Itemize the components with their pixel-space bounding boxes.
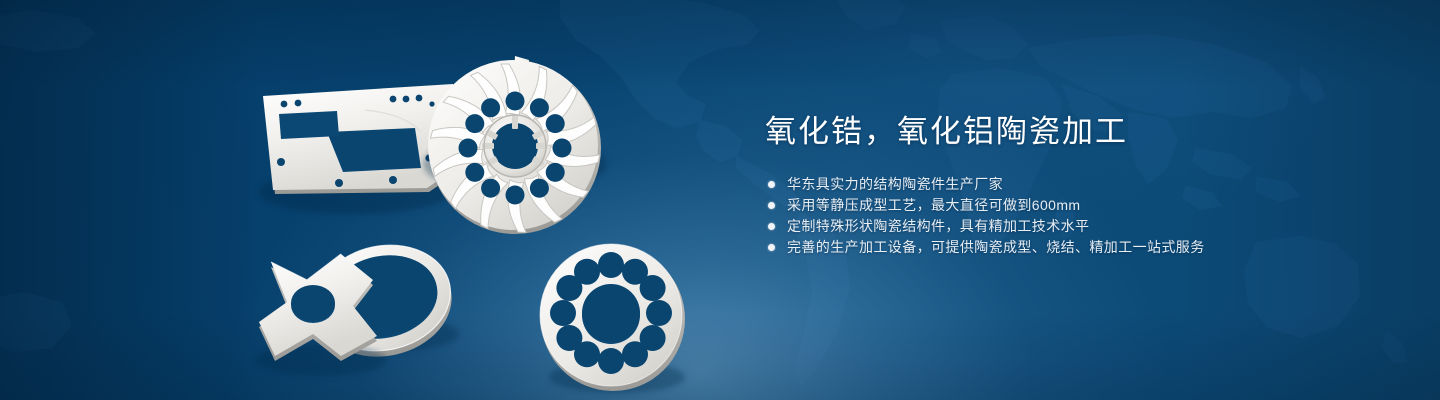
banner-copy: 氧化锆，氧化铝陶瓷加工 华东具实力的结构陶瓷件生产厂家 采用等静压成型工艺，最大…: [765, 112, 1365, 258]
ceramic-impeller-disc: [423, 56, 607, 234]
bullet-dot-icon: [768, 244, 775, 251]
list-item-label: 华东具实力的结构陶瓷件生产厂家: [787, 176, 1003, 192]
page-title: 氧化锆，氧化铝陶瓷加工: [765, 112, 1365, 152]
list-item: 华东具实力的结构陶瓷件生产厂家: [765, 174, 1365, 195]
feature-list: 华东具实力的结构陶瓷件生产厂家 采用等静压成型工艺，最大直径可做到600mm 定…: [765, 174, 1365, 258]
list-item-label: 定制特殊形状陶瓷结构件，具有精加工技术水平: [787, 218, 1089, 234]
bullet-dot-icon: [768, 202, 775, 209]
bullet-dot-icon: [768, 223, 775, 230]
list-item: 采用等静压成型工艺，最大直径可做到600mm: [765, 195, 1365, 216]
bullet-dot-icon: [768, 181, 775, 188]
ceramic-products-image: [215, 40, 735, 380]
list-item: 完善的生产加工设备，可提供陶瓷成型、烧结、精加工一站式服务: [765, 237, 1365, 258]
list-item-label: 采用等静压成型工艺，最大直径可做到600mm: [787, 197, 1080, 213]
list-item: 定制特殊形状陶瓷结构件，具有精加工技术水平: [765, 216, 1365, 237]
hero-banner: 氧化锆，氧化铝陶瓷加工 华东具实力的结构陶瓷件生产厂家 采用等静压成型工艺，最大…: [0, 0, 1440, 400]
list-item-label: 完善的生产加工设备，可提供陶瓷成型、烧结、精加工一站式服务: [787, 239, 1205, 255]
ceramic-perforated-ring: [540, 244, 685, 393]
